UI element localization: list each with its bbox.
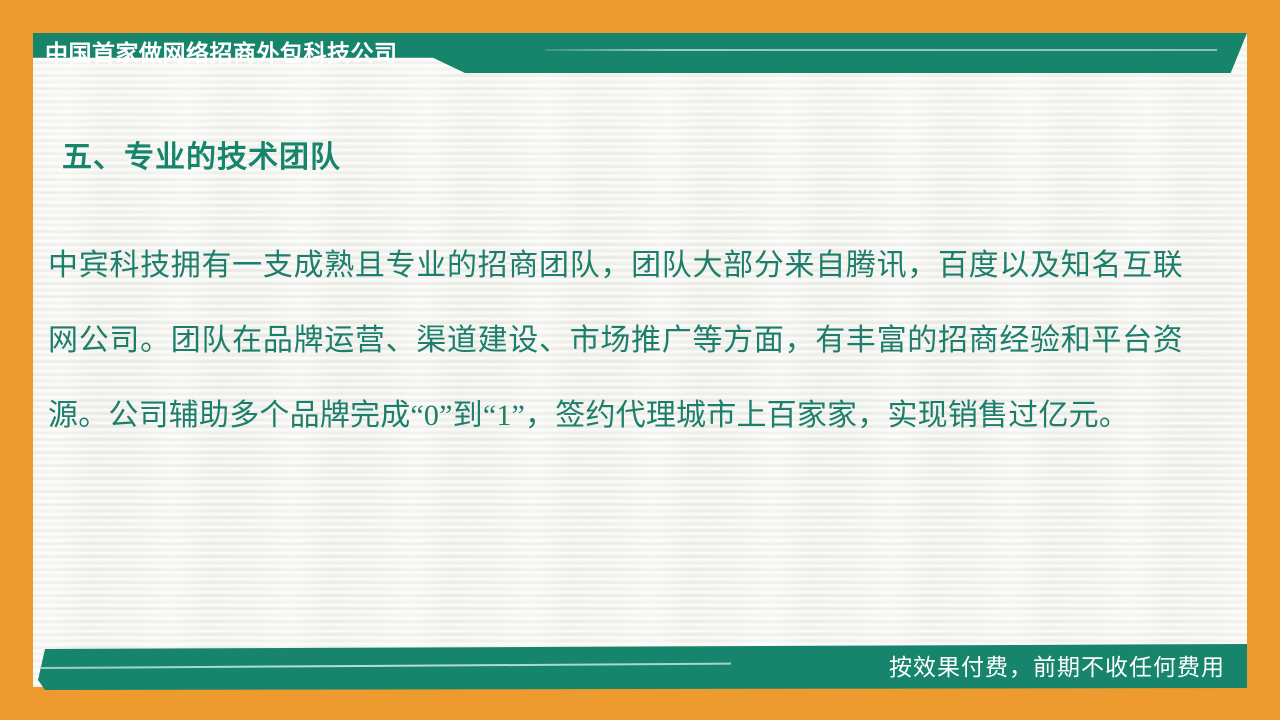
header-banner-right-notch (1213, 33, 1247, 73)
footer-banner: 按效果付费，前期不收任何费用 (33, 644, 1247, 690)
header-title: 中国首家做网络招商外包科技公司 (45, 33, 398, 73)
section-heading: 五、专业的技术团队 (62, 132, 341, 176)
header-banner: 中国首家做网络招商外包科技公司 (33, 33, 1247, 73)
header-banner-rule (545, 49, 1217, 51)
footer-tagline: 按效果付费，前期不收任何费用 (889, 644, 1225, 690)
body-paragraph: 中宾科技拥有一支成熟且专业的招商团队，团队大部分来自腾讯，百度以及知名互联网公司… (48, 228, 1183, 453)
slide-canvas: 中国首家做网络招商外包科技公司 五、专业的技术团队 中宾科技拥有一支成熟且专业的… (0, 0, 1280, 720)
